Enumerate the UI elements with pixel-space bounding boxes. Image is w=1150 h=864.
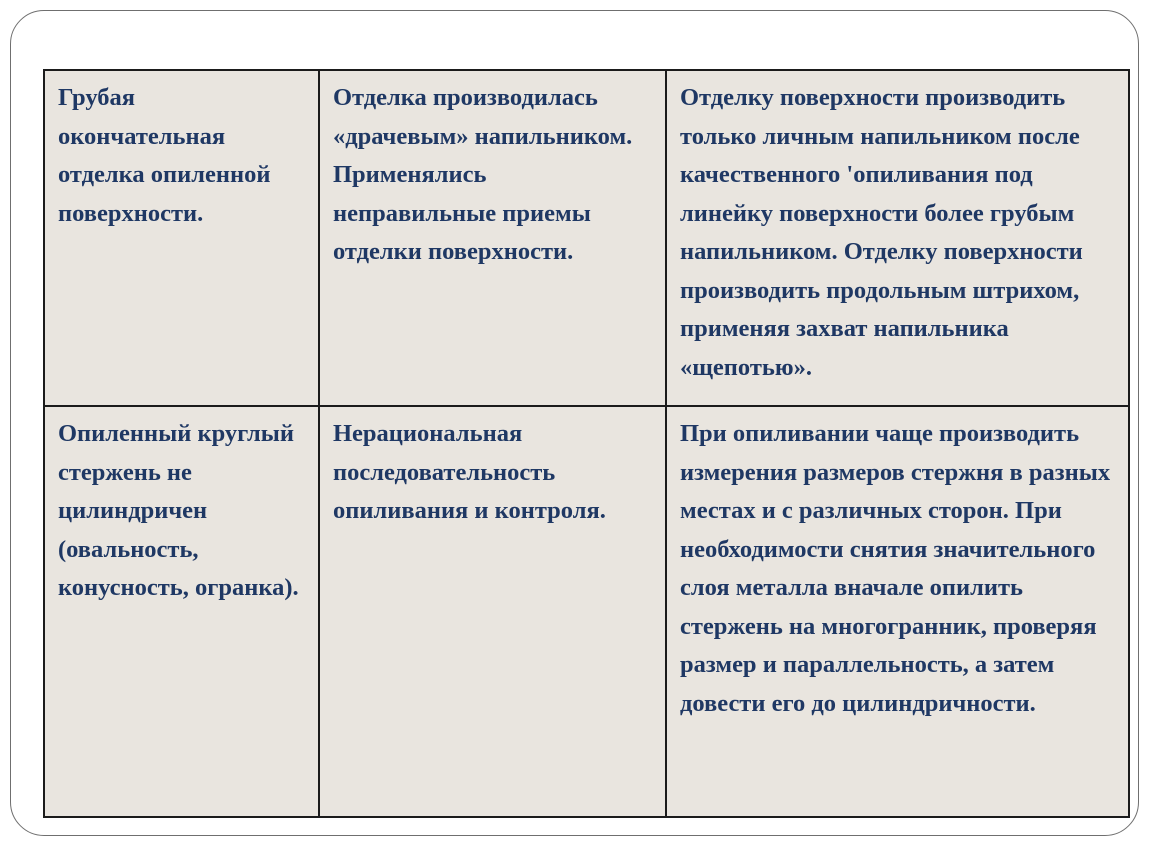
table-row: Опиленный круглый стержень не цилиндриче… xyxy=(44,406,1129,817)
defects-table: Грубая окончательная отделка опиленной п… xyxy=(43,69,1130,818)
cell-defect-1: Грубая окончательная отделка опиленной п… xyxy=(44,70,319,406)
cell-text: Нерациональная последовательность опилив… xyxy=(333,415,653,531)
cell-text: Отделка производилась «драчевым» напильн… xyxy=(333,79,653,272)
cell-text: При опиливании чаще производить измерени… xyxy=(680,415,1116,723)
cell-remedy-2: При опиливании чаще производить измерени… xyxy=(666,406,1129,817)
table-row: Грубая окончательная отделка опиленной п… xyxy=(44,70,1129,406)
slide-frame: Грубая окончательная отделка опиленной п… xyxy=(10,10,1139,836)
cell-text: Опиленный круглый стержень не цилиндриче… xyxy=(58,415,306,608)
cell-cause-2: Нерациональная последовательность опилив… xyxy=(319,406,666,817)
cell-remedy-1: Отделку поверхности производить только л… xyxy=(666,70,1129,406)
cell-text: Отделку поверхности производить только л… xyxy=(680,79,1116,387)
table-container: Грубая окончательная отделка опиленной п… xyxy=(43,69,1128,816)
cell-cause-1: Отделка производилась «драчевым» напильн… xyxy=(319,70,666,406)
cell-defect-2: Опиленный круглый стержень не цилиндриче… xyxy=(44,406,319,817)
cell-text: Грубая окончательная отделка опиленной п… xyxy=(58,79,306,233)
